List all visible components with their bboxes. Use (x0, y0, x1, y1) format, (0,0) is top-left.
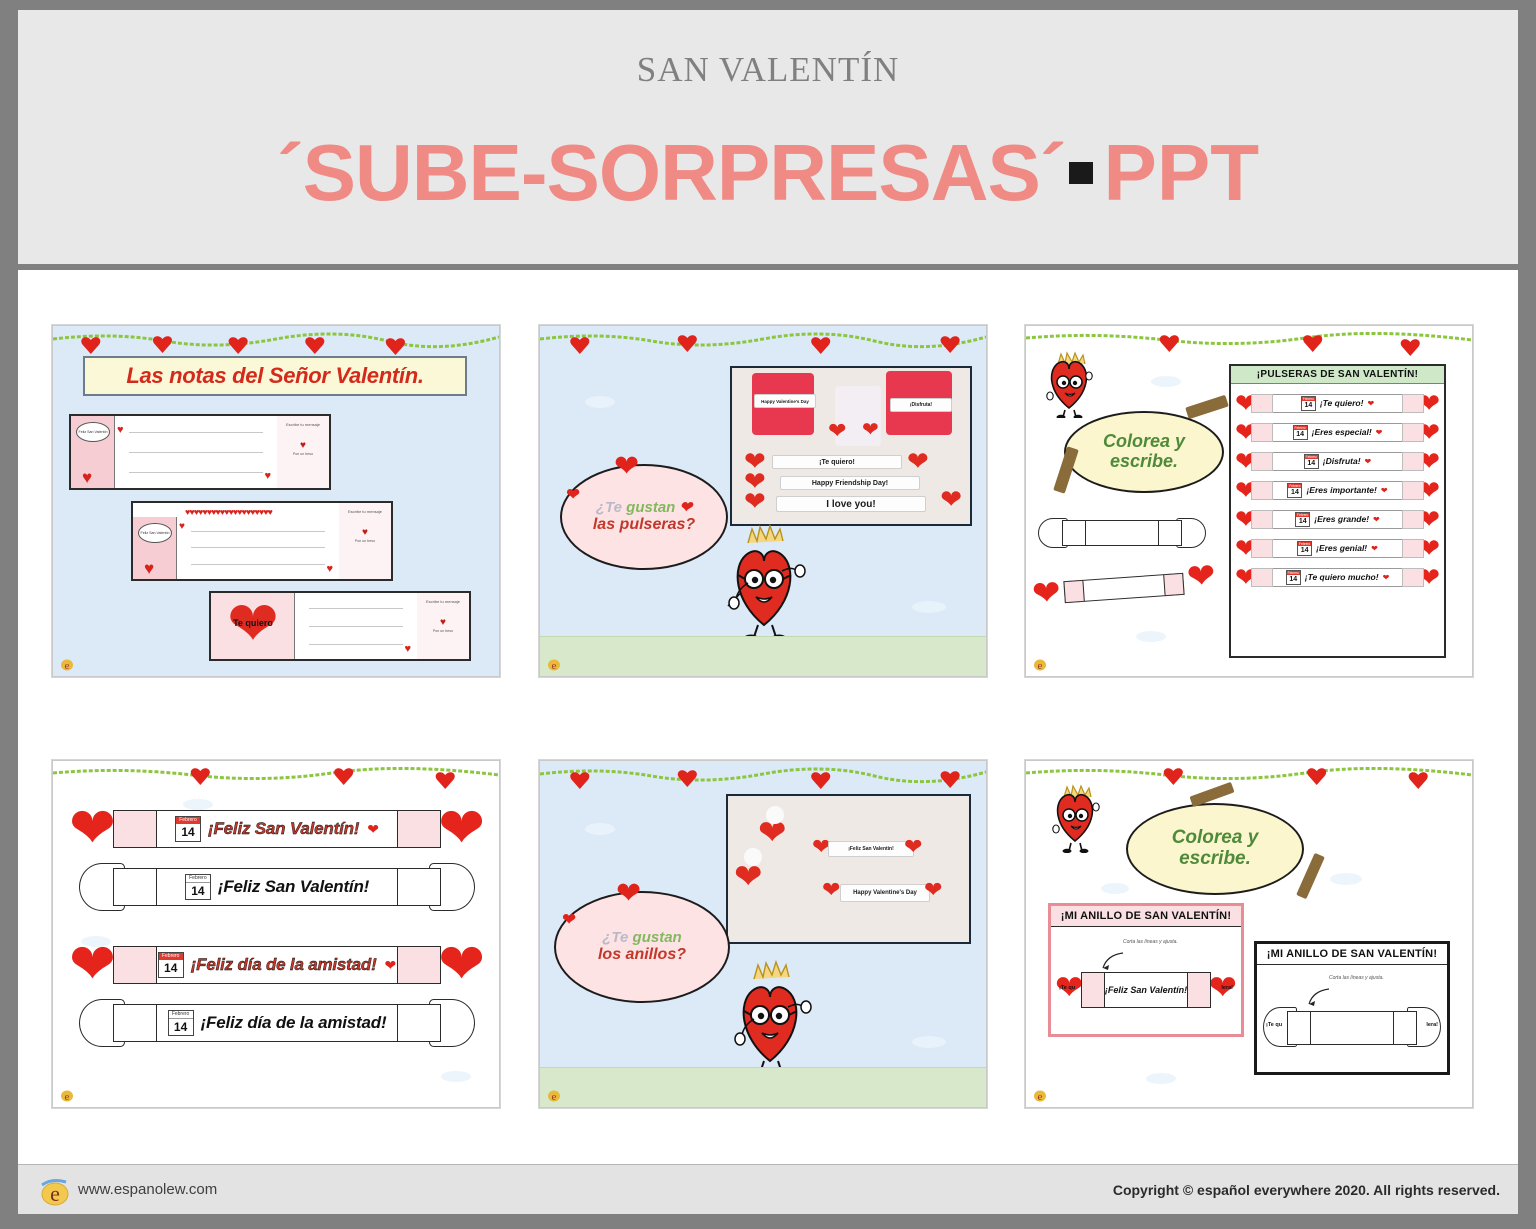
bracelet-band: Febrero14¡Eres importante!❤ (1251, 481, 1424, 500)
cloud-icon (1101, 883, 1129, 894)
note-card-2-writing-lines[interactable]: ♥ ♥ (177, 517, 339, 579)
note-card-1-bubble-text: Feliz San Valentín (76, 422, 110, 442)
bracelet-row: ❤❤Febrero14¡Eres especial!❤ (1235, 419, 1440, 446)
note-card-2[interactable]: ♥♥♥♥♥♥♥♥♥♥♥♥♥♥♥♥♥♥♥♥ Feliz San Valentín … (131, 501, 393, 581)
bracelet-text: ¡Eres especial! (1312, 428, 1372, 437)
bracelet-band: Febrero14¡Disfruta!❤ (1251, 452, 1424, 471)
bracelet-patch (113, 810, 157, 848)
bracelet-text: ¡Feliz día de la amistad! (191, 955, 377, 975)
slide-thumbnail-4[interactable]: ❤❤Febrero14¡Feliz San Valentín!❤Febrero1… (52, 760, 500, 1108)
bracelet-patch (1251, 568, 1273, 587)
bracelet-patch (1251, 394, 1273, 413)
bracelet-row: ❤❤Febrero14¡Te quiero!❤ (1235, 390, 1440, 417)
page-title-suffix: PPT (1103, 133, 1259, 213)
blank-bracelet-2: ❤ ❤ (1039, 565, 1209, 611)
slide-3-bracelet-list: ❤❤Febrero14¡Te quiero!❤❤❤Febrero14¡Eres … (1231, 384, 1444, 591)
calendar-icon: Febrero14 (1293, 425, 1308, 440)
slide-3-bracelet-panel: ¡PULSERAS DE SAN VALENTÍN! ❤❤Febrero14¡T… (1229, 364, 1446, 658)
grass-strip (540, 1067, 986, 1107)
bracelet-patch (397, 868, 441, 906)
heart-icon: ❤ (1381, 486, 1388, 495)
bracelet-band: Febrero14¡Eres genial!❤ (1251, 539, 1424, 558)
heart-character-icon: ♥ (82, 469, 92, 486)
slide-6-canvas: Colorea y escribe. ¡MI ANILLO DE SAN VAL… (1026, 761, 1472, 1107)
pencil-icon (1296, 853, 1325, 899)
ring-panel-1-right-tab: lera! (1221, 985, 1233, 991)
bracelet-band: Febrero14¡Feliz día de la amistad! (113, 1004, 441, 1042)
calendar-icon: Febrero14 (1295, 512, 1310, 527)
slide-3-bubble-line2: escribe. (1110, 452, 1178, 472)
heart-icon: ❤ (438, 800, 485, 856)
pencil-icon (1189, 782, 1234, 807)
cloud-icon (1330, 873, 1362, 885)
bracelet-band: Febrero14¡Te quiero mucho!❤ (1251, 568, 1424, 587)
heart-icon: ❤ (862, 420, 879, 440)
heart-icon: ❤ (1367, 399, 1374, 408)
slide-2-photo: Happy Valentine's Day ¡Disfruta! ❤ ❤ ❤ ¡… (730, 366, 972, 526)
ring-panel-1-note: Corta las líneas y ajusta. (1123, 939, 1178, 946)
heart-icon: ❤ (1371, 544, 1378, 553)
white-bead-icon (766, 806, 784, 824)
cup-label-1: Happy Valentine's Day (754, 394, 816, 408)
heart-icon: ❤ (616, 879, 641, 909)
photo-strip-ring-2: Happy Valentine's Day (840, 884, 930, 902)
calendar-icon: Febrero14 (1286, 570, 1301, 585)
cloud-icon (1136, 631, 1166, 642)
bracelet-patch (113, 868, 157, 906)
note-card-3-lip-label: Pon un beso (417, 629, 469, 634)
calendar-icon: Febrero14 (1304, 454, 1319, 469)
slide-logo-icon: e (60, 1086, 74, 1102)
cloud-icon (585, 396, 615, 408)
slide-4-canvas: ❤❤Febrero14¡Feliz San Valentín!❤Febrero1… (53, 761, 499, 1107)
calendar-icon: Febrero14 (168, 1010, 194, 1036)
bracelet-text: ¡Eres grande! (1314, 515, 1369, 524)
bracelet-band: Febrero14¡Feliz San Valentín!❤ (113, 810, 441, 848)
note-card-3-hint-text: Escribe tu mensaje (426, 599, 460, 604)
heart-icon: ❤ (385, 957, 397, 974)
ring-panel-1-left-tab: ¡Te qu (1059, 985, 1075, 991)
lips-icon: ♥ (417, 616, 469, 629)
heart-icon: ❤ (822, 879, 840, 901)
heart-garland-icon (53, 765, 499, 795)
bracelet-text: ¡Feliz San Valentín! (208, 819, 359, 839)
bracelet-patch (1251, 481, 1273, 500)
heart-icon: ♥ (117, 424, 124, 436)
svg-text:e: e (552, 660, 557, 671)
heart-icon: ❤ (924, 879, 942, 901)
svg-text:e: e (65, 1091, 70, 1102)
slides-area: Las notas del Señor Valentín. Feliz San … (18, 270, 1518, 1164)
bracelet-text: ¡Eres importante! (1306, 486, 1376, 495)
note-card-3[interactable]: ❤ Te quiero ♥ Escribe tu mensaje ♥ Pon u… (209, 591, 471, 661)
bracelet-row: ❤❤Febrero14¡Te quiero mucho!❤ (1235, 564, 1440, 591)
slide-thumbnail-3[interactable]: Colorea y escribe. ❤ ❤ (1025, 325, 1473, 677)
cloud-icon (1146, 1073, 1176, 1084)
heart-icon: ❤ (438, 936, 485, 992)
note-card-2-lip-label: Pon un beso (339, 539, 391, 544)
slide-5-bubble-line1: ¿Te gustan (602, 930, 681, 947)
bracelet-band: Febrero14¡Eres especial!❤ (1251, 423, 1424, 442)
cloud-icon (1151, 376, 1181, 387)
bracelet-row: ❤❤Febrero14¡Disfruta!❤ (1235, 448, 1440, 475)
pencil-icon (1053, 446, 1079, 493)
slide-1-title-box: Las notas del Señor Valentín. (83, 356, 467, 396)
ring-panel-1-title: ¡MI ANILLO DE SAN VALENTÍN! (1051, 906, 1241, 926)
ring-panel-2-note: Corta las líneas y ajusta. (1329, 975, 1384, 982)
slide-3-panel-title: ¡PULSERAS DE SAN VALENTÍN! (1231, 366, 1444, 384)
slide-thumbnail-6[interactable]: Colorea y escribe. ¡MI ANILLO DE SAN VAL… (1025, 760, 1473, 1108)
header-band: SAN VALENTÍN ´SUBE-SORPRESAS´ PPT (18, 10, 1518, 264)
bracelet-text: ¡Te quiero mucho! (1305, 573, 1379, 582)
slide-logo-icon: e (60, 655, 74, 671)
slide-thumbnail-1[interactable]: Las notas del Señor Valentín. Feliz San … (52, 325, 500, 677)
calendar-icon: Febrero14 (158, 952, 184, 978)
note-card-1-right-hint: Escribe tu mensaje ♥ Pon un beso (277, 416, 329, 488)
svg-text:e: e (50, 1181, 60, 1206)
heart-icon: ❤ (940, 486, 962, 512)
slide-3-bubble-line1: Colorea y (1103, 432, 1185, 452)
slide-6-bubble-line2: escribe. (1179, 849, 1251, 870)
bracelet-band: Febrero14¡Eres grande!❤ (1251, 510, 1424, 529)
big-heart-icon: ❤ Te quiero (214, 596, 292, 654)
slide-thumbnail-5[interactable]: ❤ ❤ ❤ ¡Feliz San Valentín! ❤ ❤ Happy Val… (539, 760, 987, 1108)
bracelet-patch (1402, 423, 1424, 442)
bracelet-patch (113, 1004, 157, 1042)
heart-icon: ❤ (1376, 428, 1383, 437)
page-title: ´SUBE-SORPRESAS´ (277, 133, 1066, 213)
slide-2-bubble-line2: las pulseras? (593, 516, 695, 534)
note-card-1-lip-label: Pon un beso (277, 452, 329, 457)
heart-icon: ❤ (69, 800, 116, 856)
note-card-2-hint-text: Escribe tu mensaje (348, 509, 382, 514)
bracelet-text: ¡Eres genial! (1316, 544, 1367, 553)
slide-logo-icon: e (547, 1086, 561, 1102)
slide-2-bubble-line1: ¿Te gustan ❤ (596, 500, 692, 517)
calendar-icon: Febrero14 (1301, 396, 1316, 411)
bracelet-patch (1402, 481, 1424, 500)
note-card-1[interactable]: Feliz San Valentín ♥ ♥ ♥ Escribe tu mens… (69, 414, 331, 490)
bracelet-patch (1251, 510, 1273, 529)
white-bead-icon (744, 848, 762, 866)
big-bracelet-2: Febrero14¡Feliz San Valentín! (79, 861, 475, 913)
heart-icon: ❤ (367, 821, 379, 838)
bracelet-row: ❤❤Febrero14¡Eres importante!❤ (1235, 477, 1440, 504)
heart-icon: ❤ (744, 488, 766, 514)
cup-label-2: ¡Disfruta! (890, 398, 952, 412)
note-card-2-left-art: Feliz San Valentín ♥ (133, 517, 177, 579)
bracelet-patch (1402, 452, 1424, 471)
bracelet-patch (397, 1004, 441, 1042)
cloud-icon (585, 823, 615, 835)
bracelet-band: Febrero14¡Te quiero!❤ (1251, 394, 1424, 413)
heart-garland-icon (540, 765, 986, 795)
bracelet-text: ¡Feliz San Valentín! (218, 877, 369, 897)
header-subtitle: SAN VALENTÍN (637, 50, 900, 90)
heart-icon: ❤ (1383, 573, 1390, 582)
calendar-icon: Febrero14 (185, 874, 211, 900)
note-card-2-bubble-text: Feliz San Valentín (138, 523, 172, 543)
slide-6-bubble-line1: Colorea y (1172, 828, 1259, 849)
cloud-icon (441, 1071, 471, 1082)
heart-character-with-glasses-icon (1042, 348, 1096, 418)
slide-1-title-text: Las notas del Señor Valentín. (126, 363, 423, 389)
slide-logo-icon: e (1033, 655, 1047, 671)
lips-icon: ♥ (277, 439, 329, 452)
slide-3-speech-bubble: Colorea y escribe. (1064, 411, 1224, 493)
note-card-1-left-art: Feliz San Valentín ♥ (71, 416, 115, 488)
header-title-row: ´SUBE-SORPRESAS´ PPT (277, 133, 1259, 213)
heart-icon: ❤ (828, 420, 846, 442)
bracelet-patch (1402, 568, 1424, 587)
bracelet-patch (1402, 394, 1424, 413)
heart-icon: ❤ (907, 448, 929, 474)
heart-icon: ♥ (404, 643, 411, 655)
slide-5-photo: ❤ ❤ ❤ ¡Feliz San Valentín! ❤ ❤ Happy Val… (726, 794, 971, 944)
note-card-2-right-hint: Escribe tu mensaje ♥ Pon un beso (339, 503, 391, 579)
footer-url[interactable]: www.espanolew.com (78, 1181, 217, 1198)
heart-character-with-glasses-icon (726, 957, 814, 1077)
heart-icon: ❤ (69, 936, 116, 992)
heart-icon: ♥ (326, 563, 333, 575)
bracelet-text: ¡Disfruta! (1323, 457, 1361, 466)
note-card-1-hint-text: Escribe tu mensaje (286, 422, 320, 427)
bracelet-patch (397, 810, 441, 848)
bracelet-patch (397, 946, 441, 984)
page-root: SAN VALENTÍN ´SUBE-SORPRESAS´ PPT (0, 0, 1536, 1229)
heart-icon: ❤ (566, 486, 580, 503)
note-card-3-writing-lines[interactable]: ♥ (295, 593, 417, 659)
heart-icon: ♥ (179, 521, 185, 532)
heart-icon: ❤ (614, 452, 639, 482)
big-bracelet-4: Febrero14¡Feliz día de la amistad! (79, 997, 475, 1049)
bracelet-patch (1251, 452, 1273, 471)
cloud-icon (912, 601, 946, 613)
heart-character-with-glasses-icon (1048, 781, 1102, 853)
slide-logo-icon: e (547, 655, 561, 671)
bracelet-text: ¡Feliz día de la amistad! (201, 1013, 387, 1033)
bracelet-row: ❤❤Febrero14¡Eres grande!❤ (1235, 506, 1440, 533)
bracelet-band: Febrero14¡Feliz día de la amistad!❤ (113, 946, 441, 984)
espanolew-logo-icon: e (38, 1173, 72, 1207)
calendar-icon: Febrero14 (1287, 483, 1302, 498)
slide-2-speech-bubble: ❤ ❤ ¿Te gustan ❤ las pulseras? (560, 464, 728, 570)
bracelet-text: ¡Te quiero! (1320, 399, 1364, 408)
heart-icon: ❤ (562, 911, 576, 928)
slide-5-canvas: ❤ ❤ ❤ ¡Feliz San Valentín! ❤ ❤ Happy Val… (540, 761, 986, 1107)
note-card-3-right-hint: Escribe tu mensaje ♥ Pon un beso (417, 593, 469, 659)
note-card-1-writing-lines[interactable]: ♥ ♥ (115, 416, 277, 488)
big-bracelet-3: ❤❤Febrero14¡Feliz día de la amistad!❤ (79, 939, 475, 991)
big-bracelet-1: ❤❤Febrero14¡Feliz San Valentín!❤ (79, 803, 475, 855)
calendar-icon: Febrero14 (1297, 541, 1312, 556)
photo-strip-1: ¡Te quiero! (772, 455, 902, 469)
photo-strip-ring-1: ¡Feliz San Valentín! (828, 841, 914, 857)
slide-logo-icon: e (1033, 1086, 1047, 1102)
pencil-icon (1185, 395, 1229, 419)
bracelet-band: Febrero14¡Feliz San Valentín! (113, 868, 441, 906)
heart-icon: ♥ (264, 470, 271, 482)
bracelet-patch (1402, 539, 1424, 558)
blank-bracelet-1 (1038, 516, 1206, 550)
heart-character-icon: ♥ (144, 560, 154, 577)
ring-panel-2-title: ¡MI ANILLO DE SAN VALENTÍN! (1257, 944, 1447, 964)
cloud-icon (912, 1036, 946, 1048)
slide-5-bubble-line2: los anillos? (598, 946, 686, 964)
photo-strip-3: I love you! (776, 496, 926, 512)
bracelet-row: ❤❤Febrero14¡Eres genial!❤ (1235, 535, 1440, 562)
heart-icon: ❤ (904, 836, 922, 858)
ring-panel-outline: ¡MI ANILLO DE SAN VALENTÍN! Corta las lí… (1254, 941, 1450, 1075)
heart-border-icon: ♥♥♥♥♥♥♥♥♥♥♥♥♥♥♥♥♥♥♥♥ (185, 507, 272, 517)
heart-character-with-glasses-icon (720, 521, 808, 641)
bracelet-patch (1251, 423, 1273, 442)
slide-2-canvas: Happy Valentine's Day ¡Disfruta! ❤ ❤ ❤ ¡… (540, 326, 986, 676)
heart-garland-icon (540, 330, 986, 360)
slide-thumbnail-2[interactable]: Happy Valentine's Day ¡Disfruta! ❤ ❤ ❤ ¡… (539, 325, 987, 677)
svg-text:e: e (552, 1091, 557, 1102)
svg-text:e: e (1038, 660, 1043, 671)
bracelet-patch (1402, 510, 1424, 529)
lips-icon: ♥ (339, 526, 391, 539)
slide-6-speech-bubble: Colorea y escribe. (1126, 803, 1304, 895)
page-footer: e www.espanolew.com Copyright © español … (18, 1164, 1518, 1214)
slide-1-canvas: Las notas del Señor Valentín. Feliz San … (53, 326, 499, 676)
bracelet-patch (113, 946, 157, 984)
svg-text:e: e (65, 660, 70, 671)
title-dash-icon (1069, 162, 1093, 184)
heart-icon: ❤ (1373, 515, 1380, 524)
calendar-icon: Febrero14 (175, 816, 201, 842)
ring-panel-2-left-tab: ¡Te qu (1266, 1022, 1282, 1028)
footer-copyright: Copyright © español everywhere 2020. All… (1113, 1182, 1500, 1198)
ring-panel-1-band-text: ¡Feliz San Valentín! (1105, 985, 1187, 995)
photo-strip-2: Happy Friendship Day! (780, 476, 920, 490)
grass-strip (540, 636, 986, 676)
note-card-3-left-art: ❤ Te quiero (211, 593, 295, 659)
ring-panel-colored: ¡MI ANILLO DE SAN VALENTÍN! Corta las lí… (1048, 903, 1244, 1037)
ring-panel-2-right-tab: lera! (1426, 1022, 1438, 1028)
slide-5-speech-bubble: ❤ ❤ ¿Te gustan los anillos? (554, 891, 730, 1003)
heart-icon: ❤ (1365, 457, 1372, 466)
bracelet-patch (1251, 539, 1273, 558)
svg-text:e: e (1038, 1091, 1043, 1102)
note-card-3-heart-label: Te quiero (233, 618, 273, 628)
slide-3-canvas: Colorea y escribe. ❤ ❤ (1026, 326, 1472, 676)
